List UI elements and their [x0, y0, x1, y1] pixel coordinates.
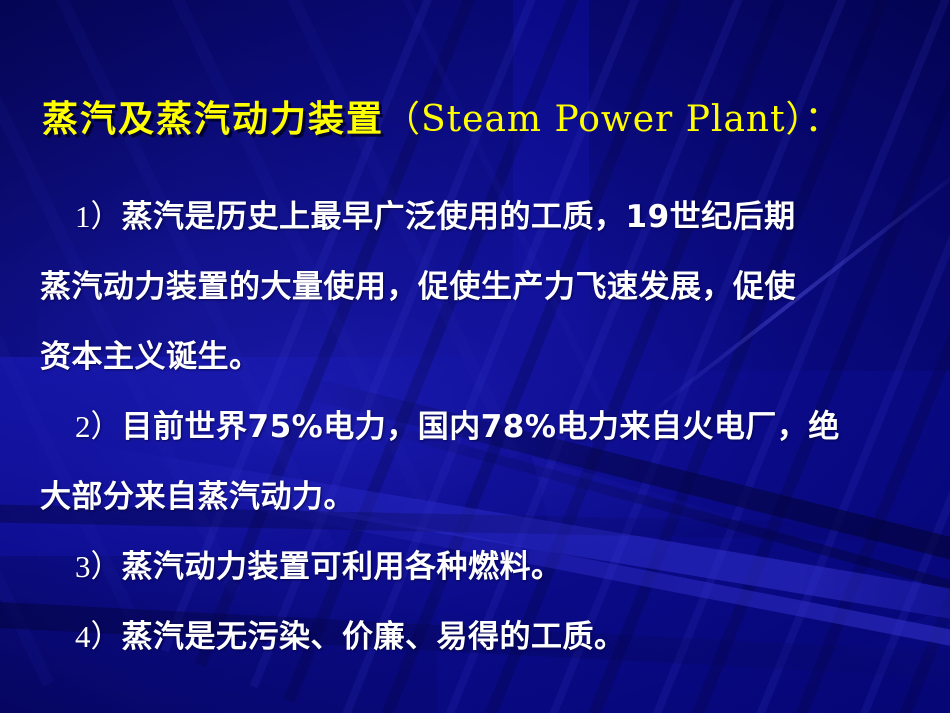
body-line: 3）蒸汽动力装置可利用各种燃料。	[0, 532, 950, 602]
body-line: 2）目前世界75%电力，国内78%电力来自火电厂，绝	[0, 392, 950, 462]
list-number: 3）	[75, 549, 122, 584]
list-number: 1）	[75, 199, 122, 234]
body-line: 大部分来自蒸汽动力。	[0, 462, 950, 532]
body-line-text: 蒸汽动力装置可利用各种燃料。	[122, 549, 563, 585]
body-line: 4）蒸汽是无污染、价廉、易得的工质。	[0, 602, 950, 672]
slide-title-chinese: 蒸汽及蒸汽动力装置	[42, 99, 384, 140]
slide-title: 蒸汽及蒸汽动力装置（Steam Power Plant）：	[42, 90, 842, 142]
body-line: 蒸汽动力装置的大量使用，促使生产力飞速发展，促使	[0, 252, 950, 322]
slide-body: 1）蒸汽是历史上最早广泛使用的工质，19世纪后期 蒸汽动力装置的大量使用，促使生…	[0, 182, 950, 672]
body-line-text: 蒸汽是历史上最早广泛使用的工质，19世纪后期	[122, 199, 796, 235]
body-line-text: 蒸汽是无污染、价廉、易得的工质。	[122, 619, 626, 655]
body-line-text: 资本主义诞生。	[40, 339, 261, 375]
slide-content: 蒸汽及蒸汽动力装置（Steam Power Plant）： 1）蒸汽是历史上最早…	[0, 0, 950, 713]
body-line: 1）蒸汽是历史上最早广泛使用的工质，19世纪后期	[0, 182, 950, 252]
body-line-text: 大部分来自蒸汽动力。	[40, 479, 355, 515]
body-line-text: 目前世界75%电力，国内78%电力来自火电厂，绝	[122, 409, 840, 445]
body-line-text: 蒸汽动力装置的大量使用，促使生产力飞速发展，促使	[40, 269, 796, 305]
list-number: 2）	[75, 409, 122, 444]
list-number: 4）	[75, 619, 122, 654]
presentation-slide: 蒸汽及蒸汽动力装置（Steam Power Plant）： 1）蒸汽是历史上最早…	[0, 0, 950, 713]
body-line: 资本主义诞生。	[0, 322, 950, 392]
slide-title-english: （Steam Power Plant）：	[384, 99, 842, 140]
